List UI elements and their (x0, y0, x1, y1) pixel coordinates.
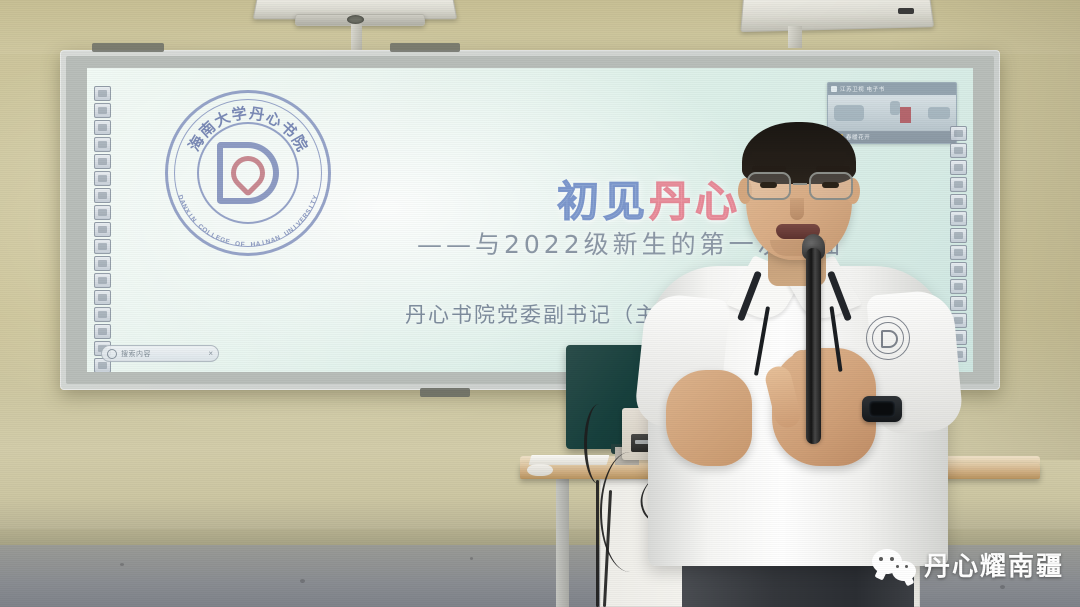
ceiling-projector-left (255, 0, 470, 40)
page-icon[interactable] (94, 307, 111, 322)
whiteboard-clip-left (92, 43, 164, 52)
pen-icon[interactable] (94, 171, 111, 186)
presenter (620, 120, 1000, 607)
presenter-eye-left (760, 182, 777, 188)
iwb-toolbar-left[interactable] (91, 86, 113, 372)
presenter-brow-right (816, 166, 850, 171)
seal-en-char: E (224, 238, 231, 246)
presenter-eye-right (822, 182, 839, 188)
search-icon (107, 349, 117, 359)
ceiling-projector-right (742, 0, 942, 44)
pen-thick-icon[interactable] (94, 205, 111, 220)
computer-mouse[interactable] (527, 464, 553, 476)
select-icon[interactable] (94, 86, 111, 101)
marker-icon[interactable] (94, 239, 111, 254)
undo-icon[interactable] (94, 324, 111, 339)
brush-icon[interactable] (94, 256, 111, 271)
presenter-nose (790, 198, 804, 220)
stamp-icon[interactable] (94, 290, 111, 305)
thumbnail-header-label: 江苏卫视 电子书 (840, 85, 885, 93)
watermark-text: 丹心耀南疆 (924, 546, 1064, 583)
seal-english-text: DANXIN COLLEGE OF HAINAN UNIVERSITY (165, 90, 331, 256)
shape-icon[interactable] (94, 137, 111, 152)
pen-thin-icon[interactable] (94, 188, 111, 203)
wristwatch (862, 396, 902, 422)
seal-en-char: F (240, 241, 245, 248)
classroom-photo-scene: 海南大学丹心书院 DANXIN COLLEGE OF HAINAN UNIVER… (0, 0, 1080, 607)
pointer-icon[interactable] (94, 103, 111, 118)
shirt-emblem-icon (866, 316, 910, 360)
projector-port (898, 8, 914, 14)
projector-lens-left (347, 15, 364, 24)
watermark: 丹心耀南疆 (872, 546, 1064, 583)
handheld-microphone[interactable] (806, 248, 821, 444)
eraser-icon[interactable] (94, 154, 111, 169)
presenter-hand-left (666, 370, 752, 466)
search-input[interactable]: 搜索内容 (121, 349, 151, 359)
thumbnail-header: 江苏卫视 电子书 (828, 83, 956, 95)
desk-leg (556, 479, 569, 607)
college-seal-logo: 海南大学丹心书院 DANXIN COLLEGE OF HAINAN UNIVER… (165, 90, 331, 256)
wechat-icon (872, 549, 916, 581)
cable-3 (596, 480, 599, 607)
whiteboard-clip-right (390, 43, 460, 52)
text-icon[interactable] (94, 273, 111, 288)
presenter-brow-left (752, 166, 786, 171)
highlighter-icon[interactable] (94, 222, 111, 237)
whiteboard-pen-tray (420, 388, 470, 397)
add-icon[interactable] (94, 120, 111, 135)
thumbnail-channel-icon (831, 86, 837, 92)
iwb-search-bar[interactable]: 搜索内容 × (101, 345, 219, 362)
close-icon[interactable]: × (208, 349, 213, 358)
seal-en-char: A (255, 240, 261, 248)
